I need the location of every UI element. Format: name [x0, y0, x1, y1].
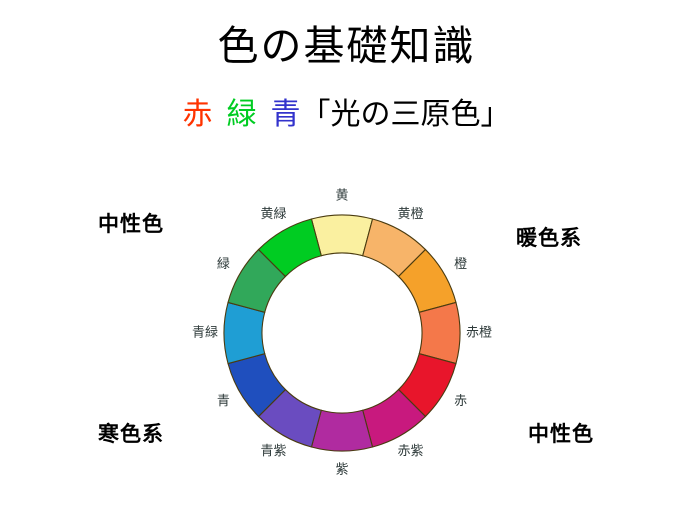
subtitle-part-phrase: 「光の三原色」 — [301, 97, 511, 132]
color-wheel-svg: 黄黄橙橙赤橙赤赤紫紫青紫青青緑緑黄緑 — [190, 181, 494, 485]
color-wheel: 黄黄橙橙赤橙赤赤紫紫青紫青青緑緑黄緑 — [190, 181, 494, 485]
color-wheel-segment-ki — [311, 215, 372, 256]
category-label-cool: 寒色系 — [98, 418, 164, 448]
subtitle: 赤緑青「光の三原色」 — [0, 98, 693, 131]
color-wheel-segment-akadai — [419, 302, 460, 363]
category-label-neutral-top: 中性色 — [98, 208, 164, 238]
color-wheel-segment-aomidori — [224, 302, 265, 363]
color-wheel-label-ao: 青 — [217, 394, 230, 409]
category-label-warm: 暖色系 — [516, 222, 582, 252]
subtitle-part-red: 赤 — [183, 97, 213, 132]
color-wheel-label-aomidori: 青緑 — [192, 326, 218, 341]
color-wheel-segment-murasaki — [311, 410, 372, 451]
color-wheel-label-kimidori: 黄緑 — [260, 207, 286, 222]
color-wheel-label-akamurasaki: 赤紫 — [397, 444, 423, 459]
color-wheel-label-midori: 緑 — [217, 257, 230, 272]
subtitle-part-blue: 青 — [271, 97, 301, 132]
color-wheel-label-kidai: 黄橙 — [397, 207, 423, 222]
slide-canvas: 色の基礎知識 赤緑青「光の三原色」 中性色 暖色系 寒色系 中性色 黄黄橙橙赤橙… — [0, 0, 693, 520]
color-wheel-label-dai: 橙 — [454, 257, 467, 272]
color-wheel-segments — [224, 215, 460, 451]
color-wheel-label-ki: 黄 — [335, 189, 348, 204]
category-label-neutral-bottom: 中性色 — [528, 418, 594, 448]
subtitle-part-green: 緑 — [227, 97, 257, 132]
color-wheel-label-aomurasaki: 青紫 — [260, 444, 286, 459]
page-title: 色の基礎知識 — [0, 24, 693, 69]
color-wheel-label-aka: 赤 — [454, 394, 467, 409]
color-wheel-label-murasaki: 紫 — [335, 463, 348, 478]
color-wheel-label-akadai: 赤橙 — [466, 326, 492, 341]
